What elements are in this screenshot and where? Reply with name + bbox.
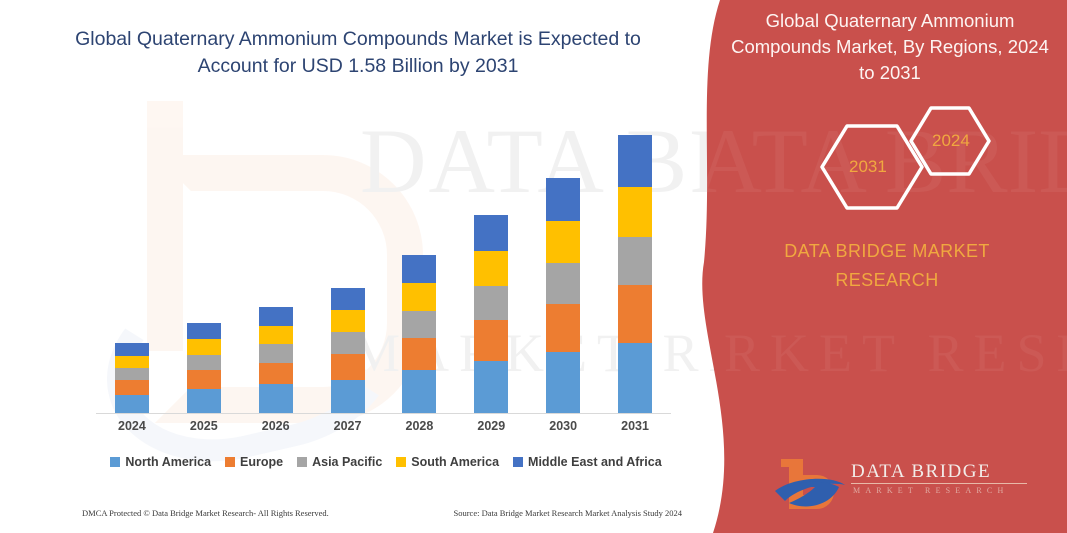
bar-segment xyxy=(259,384,293,413)
bar-segment xyxy=(618,343,652,413)
stacked-bar[interactable] xyxy=(402,255,436,413)
bar-segment xyxy=(618,237,652,285)
bar-segment xyxy=(402,255,436,284)
bar-segment xyxy=(331,288,365,310)
legend-label: Asia Pacific xyxy=(312,455,382,469)
bar-segment xyxy=(259,326,293,345)
bar-slot xyxy=(312,118,384,413)
brand-name: DATA BRIDGE MARKET RESEARCH xyxy=(747,237,1027,295)
legend-item[interactable]: Europe xyxy=(225,455,283,469)
bar-segment xyxy=(115,395,149,413)
legend-label: North America xyxy=(125,455,211,469)
x-axis-tick-label: 2025 xyxy=(168,419,240,433)
x-axis-tick-label: 2029 xyxy=(455,419,527,433)
bar-segment xyxy=(546,178,580,222)
bar-slot xyxy=(455,118,527,413)
bar-slot xyxy=(527,118,599,413)
legend-swatch-icon xyxy=(297,457,307,467)
bar-segment xyxy=(474,251,508,286)
bar-segment xyxy=(115,368,149,380)
bar-segment xyxy=(402,338,436,370)
bar-segment xyxy=(115,343,149,356)
bar-slot xyxy=(240,118,312,413)
bar-segment xyxy=(187,323,221,339)
stacked-bar[interactable] xyxy=(187,323,221,413)
footer-source: Source: Data Bridge Market Research Mark… xyxy=(453,508,682,518)
bar-segment xyxy=(259,307,293,326)
bar-segment xyxy=(187,389,221,413)
legend-swatch-icon xyxy=(225,457,235,467)
bar-segment xyxy=(187,370,221,389)
bar-segment xyxy=(187,339,221,355)
bar-slot xyxy=(96,118,168,413)
x-axis-tick-label: 2031 xyxy=(599,419,671,433)
bar-slot xyxy=(384,118,456,413)
bar-segment xyxy=(474,286,508,320)
bar-segment xyxy=(259,344,293,363)
bar-segment xyxy=(474,361,508,413)
legend-item[interactable]: North America xyxy=(110,455,211,469)
legend-item[interactable]: Asia Pacific xyxy=(297,455,382,469)
x-axis-labels: 20242025202620272028202920302031 xyxy=(96,419,671,433)
hex-label-2031: 2031 xyxy=(849,157,887,177)
hexagon-badges: 2024 2031 xyxy=(805,100,1035,210)
bar-segment xyxy=(474,320,508,361)
stacked-bar[interactable] xyxy=(474,215,508,413)
legend-item[interactable]: South America xyxy=(396,455,499,469)
legend-swatch-icon xyxy=(110,457,120,467)
stacked-bar[interactable] xyxy=(618,135,652,413)
page-title: Global Quaternary Ammonium Compounds Mar… xyxy=(58,26,658,80)
bar-segment xyxy=(402,283,436,311)
stacked-bar-chart xyxy=(96,118,671,414)
logo-wordmark: DATA BRIDGE xyxy=(851,461,991,483)
bar-segment xyxy=(618,187,652,237)
legend-swatch-icon xyxy=(396,457,406,467)
bar-segment xyxy=(331,332,365,353)
bar-segment xyxy=(546,304,580,352)
legend-label: South America xyxy=(411,455,499,469)
bar-segment xyxy=(618,135,652,187)
footer-copyright: DMCA Protected © Data Bridge Market Rese… xyxy=(82,508,329,518)
hex-label-2024: 2024 xyxy=(932,131,970,151)
data-bridge-mark-icon xyxy=(773,455,849,513)
chart-bars xyxy=(96,118,671,413)
infographic-root: DATA BRIDGE MARKET RESEARCH Global Quate… xyxy=(0,0,1067,533)
bar-segment xyxy=(331,354,365,380)
regions-panel: DATA BRIDGE MARKET RESEARCH Global Quate… xyxy=(687,0,1067,533)
footer: DMCA Protected © Data Bridge Market Rese… xyxy=(82,508,682,518)
x-axis-tick-label: 2030 xyxy=(527,419,599,433)
stacked-bar[interactable] xyxy=(546,178,580,413)
bar-segment xyxy=(474,215,508,251)
bar-segment xyxy=(546,221,580,263)
bar-segment xyxy=(402,311,436,338)
bar-slot xyxy=(168,118,240,413)
chart-pane: DATA BRIDGE MARKET RESEARCH Global Quate… xyxy=(0,0,720,533)
x-axis-tick-label: 2028 xyxy=(384,419,456,433)
legend-label: Middle East and Africa xyxy=(528,455,662,469)
regions-panel-title: Global Quaternary Ammonium Compounds Mar… xyxy=(731,8,1049,86)
bar-segment xyxy=(618,285,652,342)
logo-divider xyxy=(851,483,1027,484)
bar-segment xyxy=(331,310,365,332)
x-axis-tick-label: 2027 xyxy=(312,419,384,433)
legend-item[interactable]: Middle East and Africa xyxy=(513,455,662,469)
bar-segment xyxy=(402,370,436,413)
legend-swatch-icon xyxy=(513,457,523,467)
brand-line-1: DATA BRIDGE MARKET xyxy=(747,237,1027,266)
bar-segment xyxy=(187,355,221,371)
brand-line-2: RESEARCH xyxy=(747,266,1027,295)
bar-segment xyxy=(115,356,149,368)
data-bridge-logo: DATA BRIDGE MARKET RESEARCH xyxy=(773,455,1043,517)
hexagon-outline-icon xyxy=(805,100,1035,210)
x-axis-line xyxy=(96,413,671,414)
bar-segment xyxy=(546,352,580,413)
stacked-bar[interactable] xyxy=(259,307,293,413)
stacked-bar[interactable] xyxy=(331,288,365,413)
chart-legend: North AmericaEuropeAsia PacificSouth Ame… xyxy=(96,455,676,469)
logo-subtitle: MARKET RESEARCH xyxy=(853,486,1008,495)
x-axis-tick-label: 2024 xyxy=(96,419,168,433)
legend-label: Europe xyxy=(240,455,283,469)
bar-slot xyxy=(599,118,671,413)
stacked-bar[interactable] xyxy=(115,343,149,413)
bar-segment xyxy=(331,380,365,413)
x-axis-tick-label: 2026 xyxy=(240,419,312,433)
bar-segment xyxy=(115,380,149,396)
bar-segment xyxy=(259,363,293,384)
bar-segment xyxy=(546,263,580,304)
